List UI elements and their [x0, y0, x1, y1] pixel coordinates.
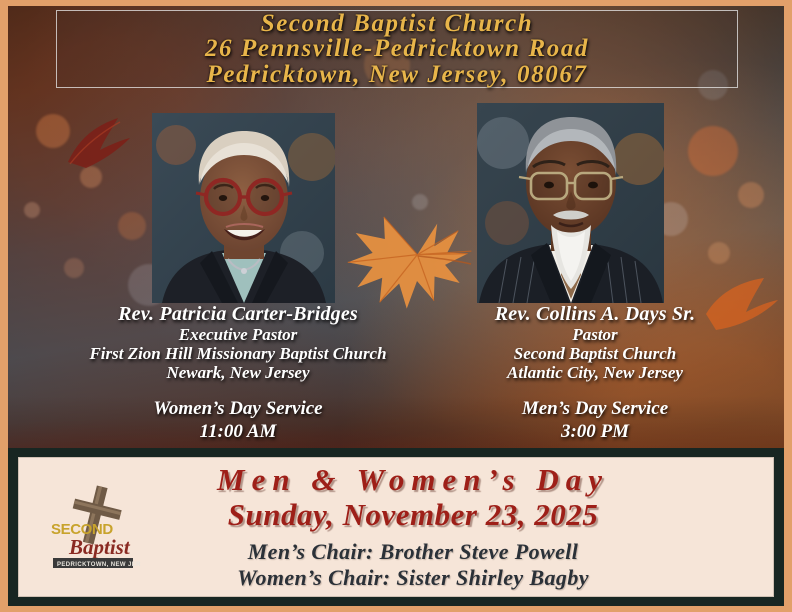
red-leaf-decor [60, 110, 136, 176]
speaker-city: Atlantic City, New Jersey [415, 363, 775, 382]
bokeh-dot [708, 242, 730, 264]
event-title: Men & Women’s Day [59, 463, 767, 498]
church-name: Second Baptist Church [261, 11, 534, 37]
church-citystate: Pedricktown, New Jersey, 08067 [206, 62, 587, 88]
bokeh-dot [118, 212, 146, 240]
bokeh-dot [36, 114, 70, 148]
logo-word-baptist: Baptist [68, 535, 131, 559]
bokeh-dot [738, 182, 764, 208]
portrait-rev-patricia-carter-bridges [152, 113, 335, 303]
speaker-church: Second Baptist Church [415, 344, 775, 363]
womens-chair-label: Women’s Chair: Sister Shirley Bagby [59, 565, 767, 591]
speaker-name: Rev. Collins A. Days Sr. [415, 303, 775, 325]
spacer [415, 382, 775, 398]
logo-location-strip: PEDRICKTOWN, NEW JERSEY [57, 562, 141, 568]
portrait-rev-collins-a-days-sr [477, 103, 664, 303]
event-date: Sunday, November 23, 2025 [59, 498, 767, 533]
speaker-name: Rev. Patricia Carter-Bridges [58, 303, 418, 325]
speaker-block-women: Rev. Patricia Carter-Bridges Executive P… [58, 303, 418, 443]
bokeh-dot [412, 194, 428, 210]
bokeh-dot [64, 258, 84, 278]
maple-leaf-decor [344, 208, 472, 312]
speaker-service: Women’s Day Service [58, 398, 418, 420]
bokeh-dot [24, 202, 40, 218]
speaker-city: Newark, New Jersey [58, 363, 418, 382]
event-banner: SECOND Baptist PEDRICKTOWN, NEW JERSEY M… [18, 457, 774, 597]
speaker-role: Pastor [415, 325, 775, 344]
speaker-time: 11:00 AM [58, 421, 418, 443]
speaker-time: 3:00 PM [415, 421, 775, 443]
church-logo: SECOND Baptist PEDRICKTOWN, NEW JERSEY [45, 484, 141, 570]
flyer-root: Second Baptist Church 26 Pennsville-Pedr… [0, 0, 792, 612]
bokeh-dot [80, 166, 102, 188]
speaker-block-men: Rev. Collins A. Days Sr. Pastor Second B… [415, 303, 775, 443]
speaker-church: First Zion Hill Missionary Baptist Churc… [58, 344, 418, 363]
mens-chair-label: Men’s Chair: Brother Steve Powell [59, 539, 767, 565]
church-street: 26 Pennsville-Pedricktown Road [205, 36, 589, 62]
speaker-role: Executive Pastor [58, 325, 418, 344]
bokeh-dot [688, 126, 738, 176]
event-banner-frame: SECOND Baptist PEDRICKTOWN, NEW JERSEY M… [8, 448, 784, 606]
spacer [58, 382, 418, 398]
address-header-box: Second Baptist Church 26 Pennsville-Pedr… [56, 10, 738, 88]
speaker-service: Men’s Day Service [415, 398, 775, 420]
